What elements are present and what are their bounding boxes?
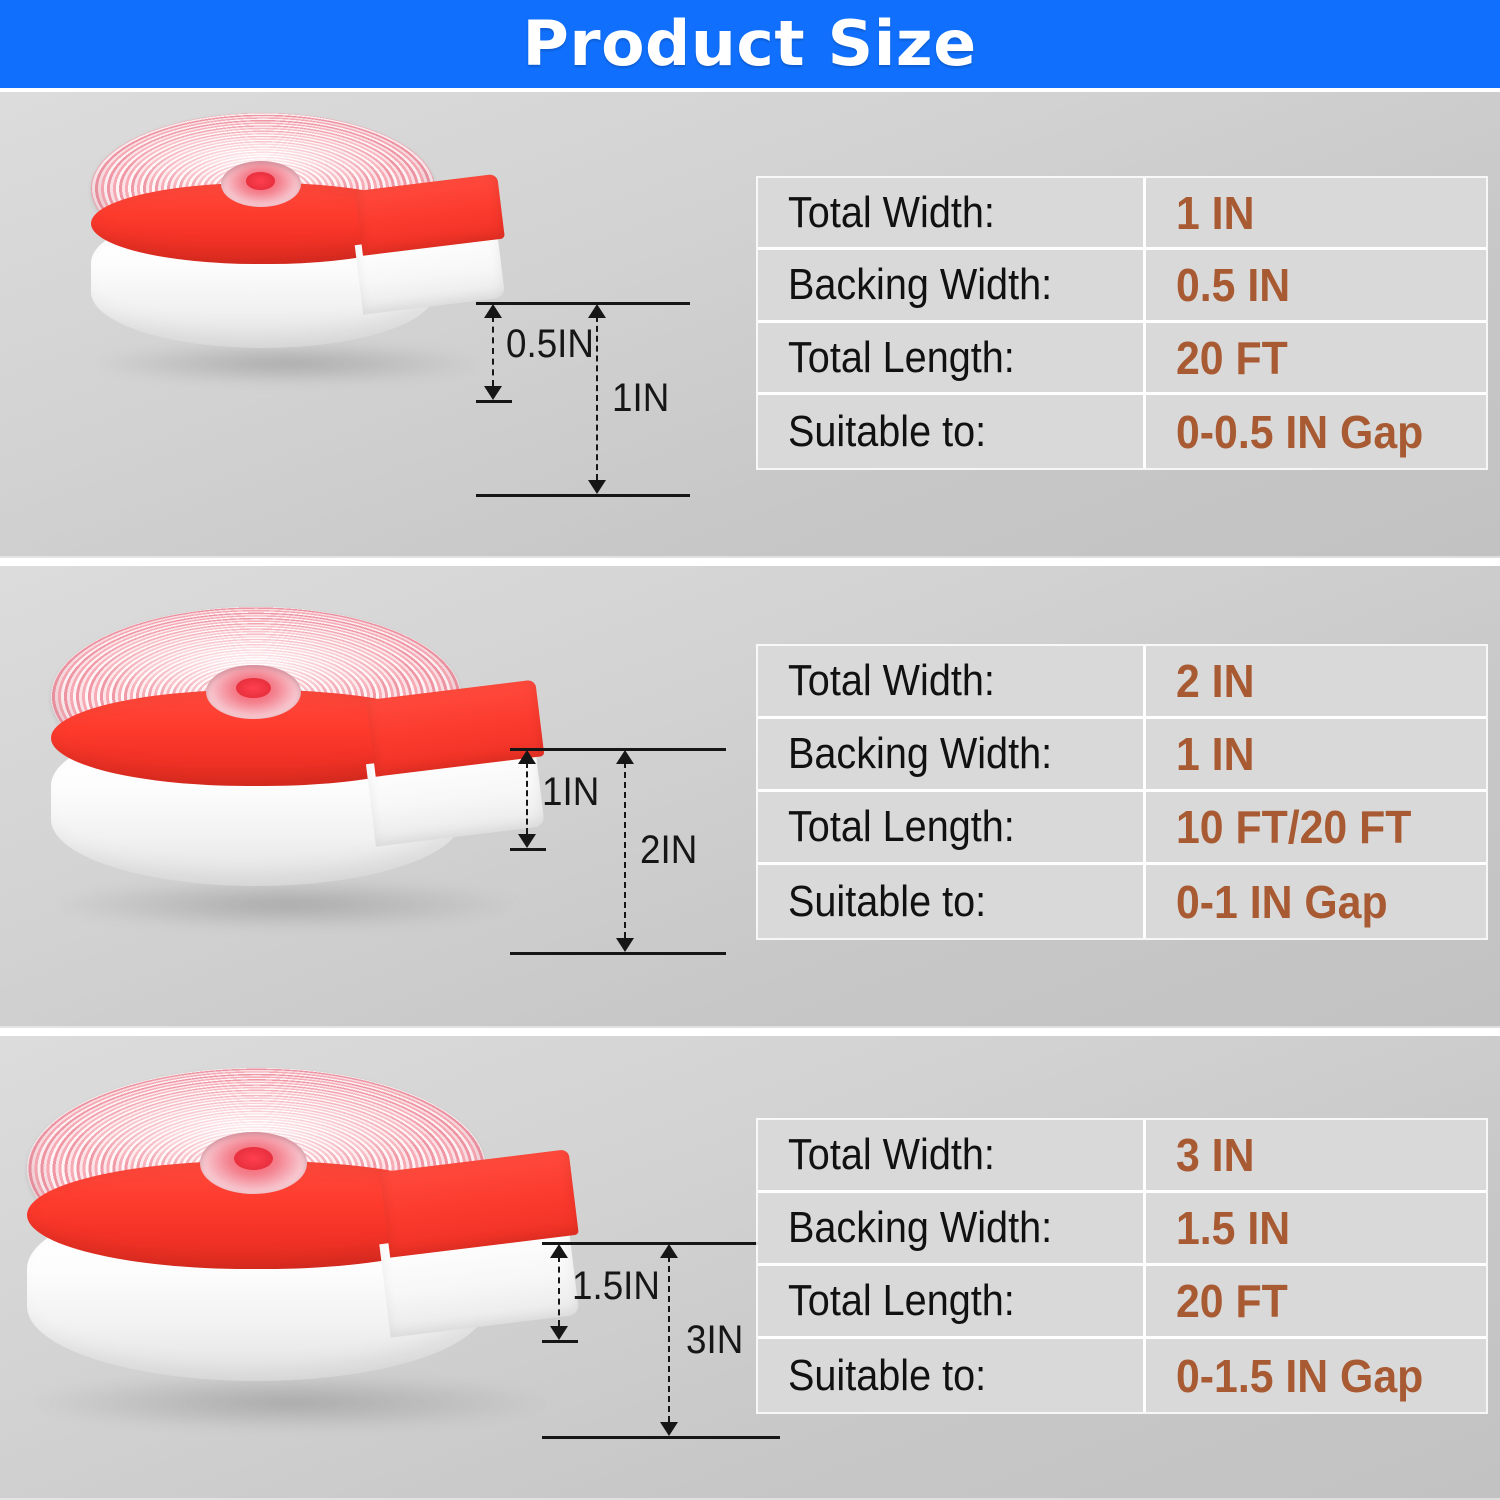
spec-label-cell: Backing Width: <box>758 1193 1146 1266</box>
spec-value-cell: 10 FT/20 FT <box>1146 792 1486 865</box>
total-dimension-label: 2IN <box>640 830 697 870</box>
dimension-annotation-2: 1IN 2IN <box>410 726 730 986</box>
extension-line-middle <box>476 400 512 403</box>
product-variant-panel-2: 1IN 2IN Total Width: 2 IN Backing Width: <box>0 566 1500 1028</box>
spec-label-cell: Total Width: <box>758 178 1146 250</box>
backing-arrow-down-icon <box>550 1326 568 1340</box>
table-row: Total Length: 20 FT <box>758 1266 1486 1339</box>
extension-line-middle <box>510 848 546 851</box>
total-width-label: Total Width: <box>788 659 995 703</box>
dimension-annotation-1: 0.5IN 1IN <box>380 278 690 518</box>
total-dimension-label: 1IN <box>612 378 669 418</box>
spec-value-cell: 0-1 IN Gap <box>1146 865 1486 938</box>
spec-value-cell: 1.5 IN <box>1146 1193 1486 1266</box>
product-variant-panel-3: 1.5IN 3IN Total Width: 3 IN Backing Widt… <box>0 1036 1500 1500</box>
total-length-value: 20 FT <box>1176 335 1288 381</box>
backing-dimension-line <box>558 1256 560 1326</box>
total-width-label: Total Width: <box>788 1133 995 1177</box>
total-width-value: 1 IN <box>1176 190 1254 236</box>
total-length-value: 20 FT <box>1176 1278 1288 1324</box>
table-row: Suitable to: 0-1 IN Gap <box>758 865 1486 938</box>
table-row: Backing Width: 1.5 IN <box>758 1193 1486 1266</box>
spec-value-cell: 3 IN <box>1146 1120 1486 1193</box>
spec-table-3: Total Width: 3 IN Backing Width: 1.5 IN … <box>758 1120 1486 1412</box>
spec-label-cell: Backing Width: <box>758 719 1146 792</box>
dimension-annotation-3: 1.5IN 3IN <box>470 1196 780 1466</box>
suitable-to-label: Suitable to: <box>788 880 986 924</box>
suitable-to-label: Suitable to: <box>788 1354 986 1398</box>
table-row: Total Length: 20 FT <box>758 323 1486 395</box>
suitable-to-label: Suitable to: <box>788 410 986 454</box>
spec-label-cell: Total Width: <box>758 1120 1146 1193</box>
total-dimension-line <box>668 1256 670 1422</box>
spec-value-cell: 0-0.5 IN Gap <box>1146 395 1486 468</box>
product-size-infographic: Product Size 0.5IN <box>0 0 1500 1500</box>
extension-line-bottom <box>476 494 690 497</box>
table-row: Total Width: 2 IN <box>758 646 1486 719</box>
table-row: Suitable to: 0-0.5 IN Gap <box>758 395 1486 468</box>
total-dimension-line <box>624 762 626 938</box>
backing-arrow-down-icon <box>484 386 502 400</box>
total-length-value: 10 FT/20 FT <box>1176 804 1411 850</box>
table-row: Total Width: 1 IN <box>758 178 1486 250</box>
spec-value-cell: 20 FT <box>1146 1266 1486 1339</box>
spec-table-1: Total Width: 1 IN Backing Width: 0.5 IN … <box>758 178 1486 468</box>
total-arrow-down-icon <box>660 1422 678 1436</box>
backing-width-label: Backing Width: <box>788 732 1052 776</box>
backing-width-label: Backing Width: <box>788 263 1052 307</box>
spec-label-cell: Total Length: <box>758 792 1146 865</box>
total-arrow-down-icon <box>616 938 634 952</box>
backing-width-value: 1 IN <box>1176 731 1254 777</box>
header-banner: Product Size <box>0 0 1500 88</box>
backing-dimension-line <box>492 316 494 386</box>
spec-value-cell: 20 FT <box>1146 323 1486 395</box>
backing-dimension-line <box>526 762 528 834</box>
table-row: Backing Width: 0.5 IN <box>758 250 1486 323</box>
spec-value-cell: 2 IN <box>1146 646 1486 719</box>
product-variant-panel-1: 0.5IN 1IN Total Width: 1 IN Backing Widt… <box>0 92 1500 558</box>
total-length-label: Total Length: <box>788 336 1015 380</box>
spec-label-cell: Total Width: <box>758 646 1146 719</box>
page-title: Product Size <box>523 13 977 75</box>
total-width-value: 3 IN <box>1176 1132 1254 1178</box>
backing-width-label: Backing Width: <box>788 1206 1052 1250</box>
spec-table-2: Total Width: 2 IN Backing Width: 1 IN To… <box>758 646 1486 938</box>
roll-hub-core <box>246 172 275 190</box>
table-row: Suitable to: 0-1.5 IN Gap <box>758 1339 1486 1412</box>
table-row: Total Length: 10 FT/20 FT <box>758 792 1486 865</box>
spec-label-cell: Suitable to: <box>758 395 1146 468</box>
suitable-to-value: 0-0.5 IN Gap <box>1176 409 1423 455</box>
spec-label-cell: Backing Width: <box>758 250 1146 323</box>
spec-value-cell: 1 IN <box>1146 178 1486 250</box>
total-dimension-label: 3IN <box>686 1320 743 1360</box>
spec-value-cell: 0.5 IN <box>1146 250 1486 323</box>
spec-label-cell: Suitable to: <box>758 865 1146 938</box>
backing-width-value: 1.5 IN <box>1176 1205 1290 1251</box>
extension-line-bottom <box>542 1436 780 1439</box>
total-width-label: Total Width: <box>788 191 995 235</box>
spec-value-cell: 1 IN <box>1146 719 1486 792</box>
extension-line-middle <box>542 1340 578 1343</box>
spec-label-cell: Total Length: <box>758 1266 1146 1339</box>
spec-label-cell: Total Length: <box>758 323 1146 395</box>
total-width-value: 2 IN <box>1176 658 1254 704</box>
total-length-label: Total Length: <box>788 805 1015 849</box>
backing-dimension-label: 0.5IN <box>506 324 594 364</box>
backing-dimension-label: 1IN <box>542 772 599 812</box>
spec-label-cell: Suitable to: <box>758 1339 1146 1412</box>
table-row: Backing Width: 1 IN <box>758 719 1486 792</box>
extension-line-top <box>476 302 690 305</box>
total-dimension-line <box>596 316 598 480</box>
backing-width-value: 0.5 IN <box>1176 262 1290 308</box>
spec-value-cell: 0-1.5 IN Gap <box>1146 1339 1486 1412</box>
table-row: Total Width: 3 IN <box>758 1120 1486 1193</box>
backing-dimension-label: 1.5IN <box>572 1266 660 1306</box>
suitable-to-value: 0-1 IN Gap <box>1176 879 1388 925</box>
extension-line-bottom <box>510 952 726 955</box>
backing-arrow-down-icon <box>518 834 536 848</box>
total-length-label: Total Length: <box>788 1279 1015 1323</box>
suitable-to-value: 0-1.5 IN Gap <box>1176 1353 1423 1399</box>
total-arrow-down-icon <box>588 480 606 494</box>
